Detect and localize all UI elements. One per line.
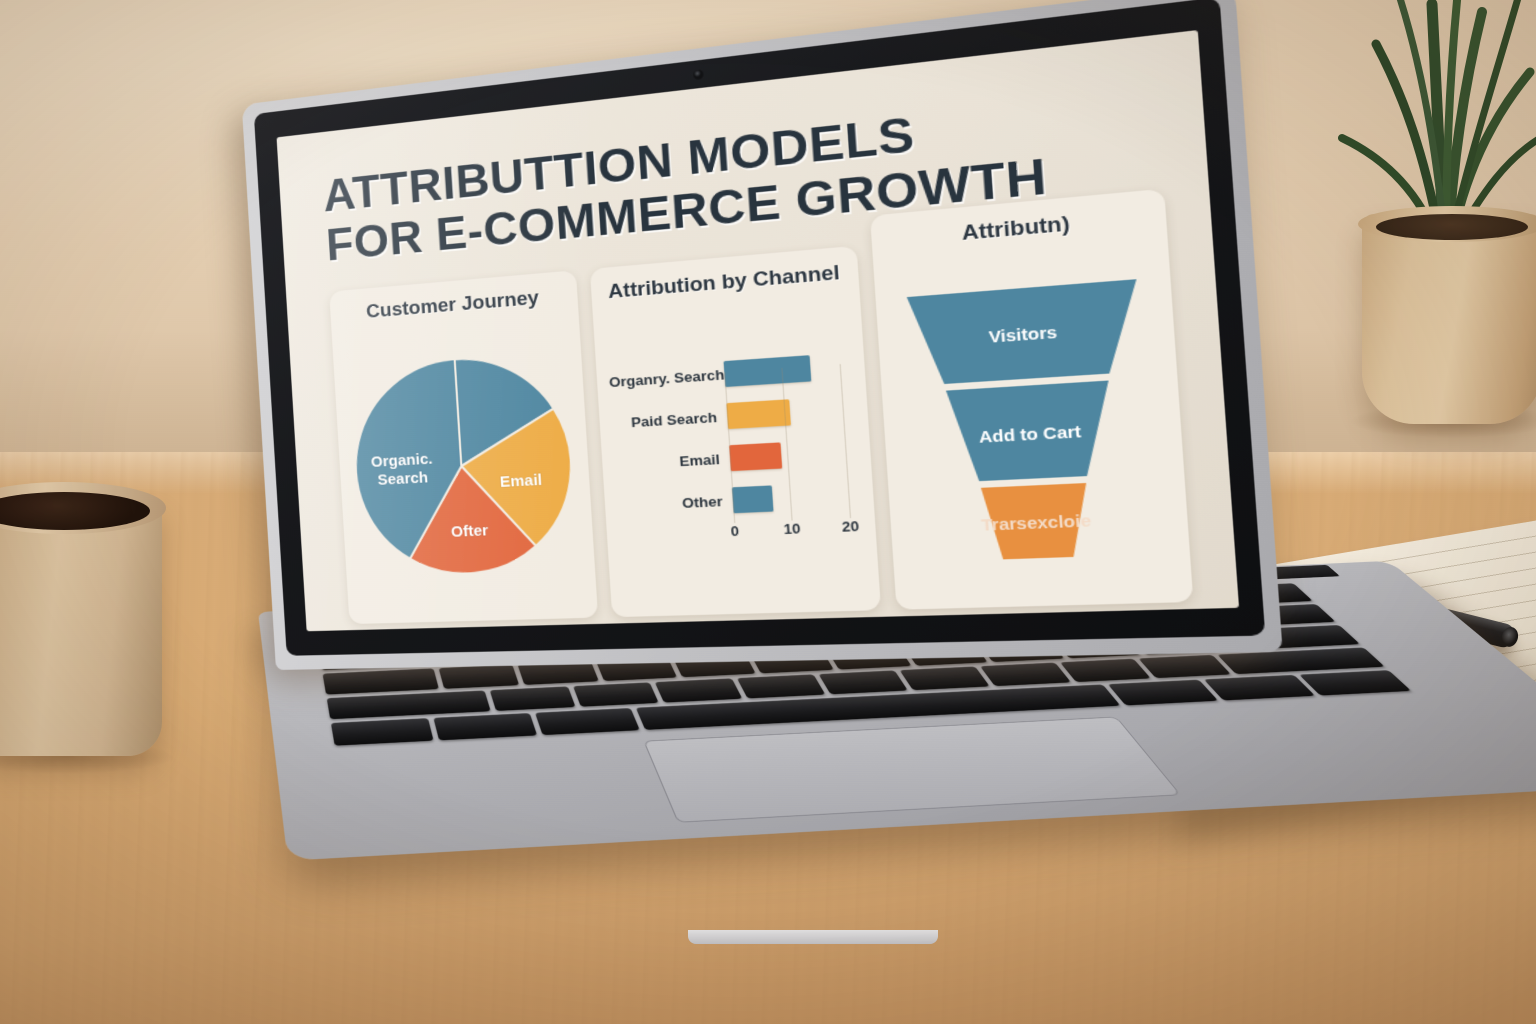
laptop: ATTRIBUTTION MODELS FOR E-COMMERCE GROWT… — [258, 100, 1488, 980]
key — [980, 662, 1071, 686]
key — [1299, 670, 1411, 695]
coffee-mug — [0, 472, 210, 782]
key — [323, 668, 439, 694]
laptop-trackpad[interactable] — [643, 717, 1181, 823]
bar-label-paid-search: Paid Search — [611, 408, 727, 431]
bar-chart-x-axis: 0 10 20 — [619, 518, 864, 549]
x-tick-10: 10 — [783, 520, 801, 537]
pie-label-ofter: Ofter — [451, 522, 489, 540]
laptop-lid: ATTRIBUTTION MODELS FOR E-COMMERCE GROWT… — [242, 0, 1283, 670]
bar-label-email: Email — [614, 450, 731, 472]
funnel-chart: Visitors Add to Cart Trarsexcloie — [886, 240, 1177, 594]
bar-track — [729, 435, 859, 474]
key — [1108, 680, 1218, 706]
bar-fill-email — [729, 443, 782, 472]
bar-fill-other — [732, 486, 774, 514]
pie-label-organic-search-l2: Search — [377, 470, 429, 489]
panel-customer-journey[interactable]: Customer Journey — [329, 270, 598, 624]
screen-bezel: ATTRIBUTTION MODELS FOR E-COMMERCE GROWT… — [254, 0, 1265, 656]
panel-attribution-by-channel[interactable]: Attribution by Channel Organry. Search — [590, 246, 881, 617]
bar-fill-organic-search — [724, 355, 812, 387]
bar-track — [732, 478, 862, 517]
key — [327, 690, 491, 719]
bar-label-other: Other — [617, 492, 734, 513]
laptop-screen[interactable]: ATTRIBUTTION MODELS FOR E-COMMERCE GROWT… — [277, 30, 1240, 631]
bar-track — [726, 392, 855, 432]
key — [737, 674, 826, 699]
key — [1139, 655, 1232, 679]
webcam-icon — [693, 69, 704, 80]
key — [818, 670, 907, 694]
pie-chart-svg: Organic. Search Email Ofter — [344, 345, 583, 582]
key — [434, 713, 538, 740]
key — [1059, 659, 1151, 683]
bar-axis-ticks: 0 10 20 — [734, 518, 863, 545]
x-tick-20: 20 — [842, 518, 860, 535]
mug-body — [0, 498, 162, 756]
panel-attribution-funnel[interactable]: Attributn) Visitors Add to Cart Trarsexc… — [870, 189, 1193, 610]
pie-label-organic-search-l1: Organic. — [371, 451, 433, 471]
funnel-chart-svg: Visitors Add to Cart Trarsexcloie — [897, 269, 1167, 567]
bar-row: Email — [613, 435, 858, 480]
bar-chart: Organry. Search Paid Search — [605, 294, 867, 602]
key — [572, 682, 659, 707]
pie-label-email: Email — [499, 472, 542, 491]
bar-row: Paid Search — [611, 392, 856, 439]
bar-label-organic-search: Organry. Search — [609, 366, 725, 390]
bar-fill-paid-search — [726, 399, 791, 429]
laptop-front-lip — [688, 930, 938, 944]
pie-chart: Organic. Search Email Ofter — [343, 316, 586, 609]
key — [655, 678, 743, 703]
key — [1204, 675, 1315, 700]
bar-row: Other — [616, 478, 861, 522]
key — [439, 665, 519, 689]
desk-scene-photo: ATTRIBUTTION MODELS FOR E-COMMERCE GROWT… — [0, 0, 1536, 1024]
bar-row: Organry. Search — [608, 349, 853, 398]
key — [331, 718, 434, 745]
key — [899, 666, 989, 690]
bar-track — [723, 349, 852, 390]
x-tick-0: 0 — [730, 523, 739, 540]
key — [535, 708, 640, 735]
key — [489, 686, 575, 711]
chart-panels-row: Customer Journey — [329, 219, 1193, 624]
bar-rows: Organry. Search Paid Search — [608, 349, 861, 521]
